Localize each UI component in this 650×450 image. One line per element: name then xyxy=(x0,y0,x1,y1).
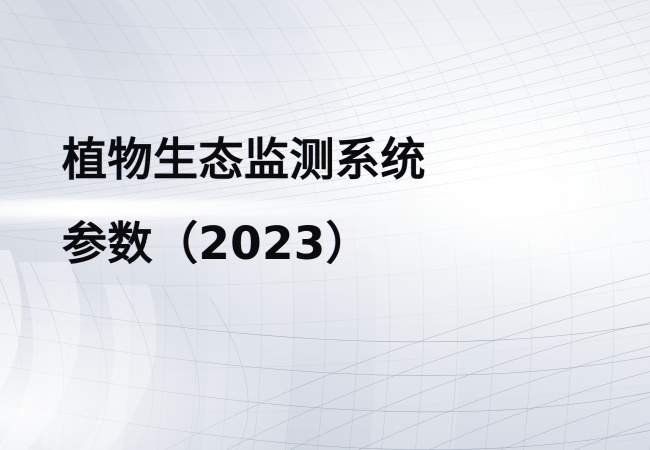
slide-title-block: 植物生态监测系统 参数（2023） xyxy=(62,118,622,286)
slide-title-line-1: 植物生态监测系统 xyxy=(62,118,622,202)
slide-title-line-2: 参数（2023） xyxy=(62,202,622,286)
title-slide: 植物生态监测系统 参数（2023） xyxy=(0,0,650,450)
